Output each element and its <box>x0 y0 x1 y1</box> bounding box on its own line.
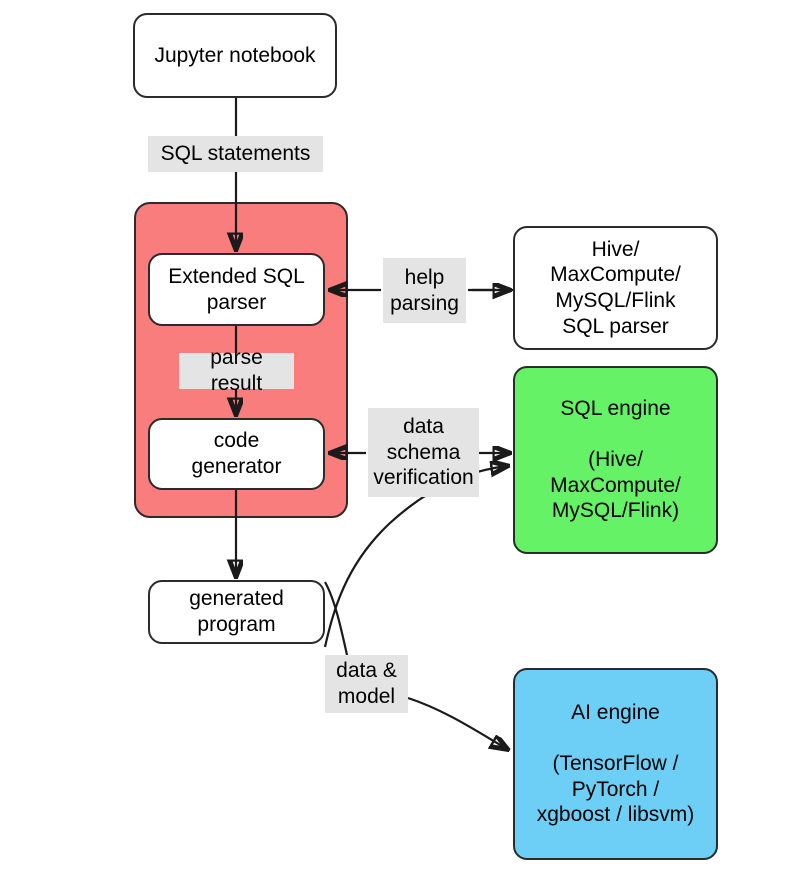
edge-label-sql-statements: SQL statements <box>148 136 323 172</box>
node-sql-engine[interactable]: SQL engine (Hive/ MaxCompute/ MySQL/Flin… <box>513 366 718 554</box>
node-sql-parser-library[interactable]: Hive/ MaxCompute/ MySQL/Flink SQL parser <box>513 226 718 350</box>
node-code-generator[interactable]: code generator <box>148 418 325 490</box>
edge-label-data-schema-verification: data schema verification <box>368 408 479 497</box>
diagram-canvas: Jupyter notebook Extended SQL parser cod… <box>0 0 801 872</box>
node-extended-sql-parser[interactable]: Extended SQL parser <box>148 253 325 326</box>
node-ai-engine[interactable]: AI engine (TensorFlow / PyTorch / xgboos… <box>513 668 718 860</box>
edge-label-data-and-model: data & model <box>325 655 408 713</box>
node-jupyter-notebook[interactable]: Jupyter notebook <box>133 13 337 98</box>
edge-label-help-parsing: help parsing <box>383 258 466 323</box>
node-generated-program[interactable]: generated program <box>148 580 325 644</box>
edge-datamodel-to-aiengine <box>408 698 507 749</box>
edge-generatedprogram-to-datamodel <box>325 582 347 655</box>
edge-label-parse-result: parse result <box>179 353 294 389</box>
